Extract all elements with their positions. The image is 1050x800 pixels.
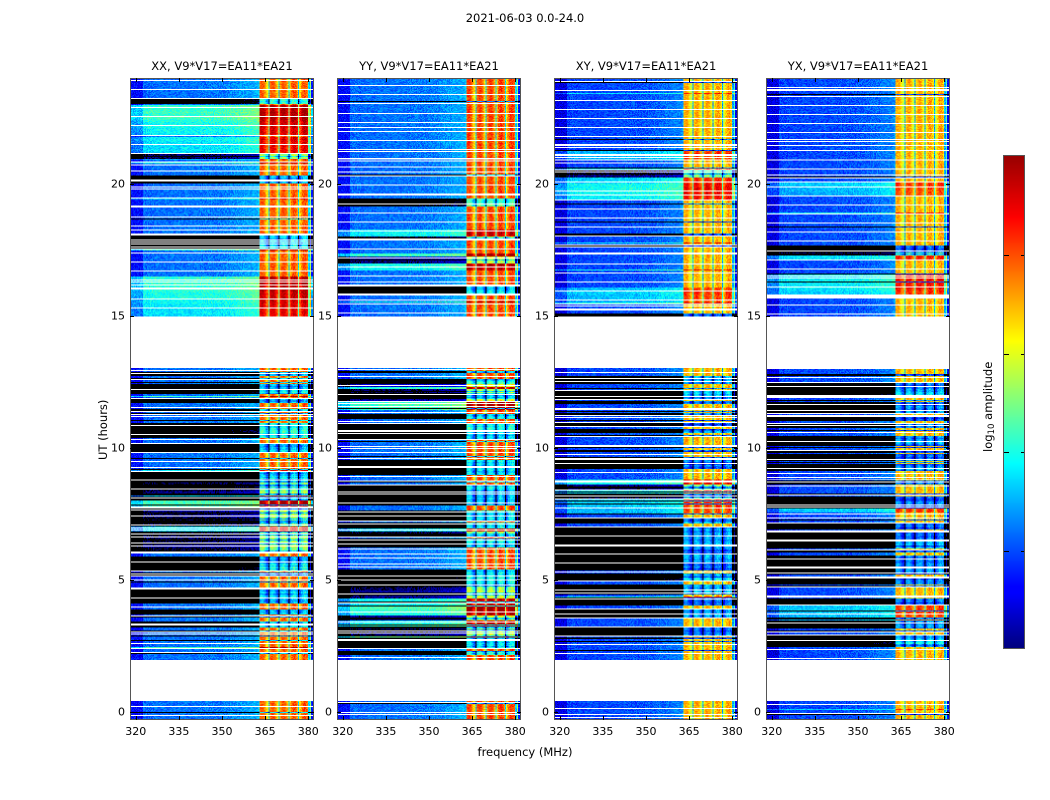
y-tick-label: 10	[111, 441, 130, 454]
colorbar-tick-mark	[1004, 452, 1009, 453]
y-tick-mark	[554, 184, 558, 185]
x-tick-label: 365	[462, 720, 483, 738]
y-tick-mark	[130, 712, 134, 713]
y-tick-mark	[517, 712, 521, 713]
x-tick-mark	[343, 78, 344, 82]
x-tick-mark	[944, 716, 945, 720]
y-tick-mark	[766, 316, 770, 317]
colorbar[interactable]: 10-1-2-3-4	[1003, 155, 1025, 649]
x-tick-mark	[222, 716, 223, 720]
y-tick-mark	[734, 448, 738, 449]
y-tick-label: 0	[325, 706, 337, 719]
x-tick-mark	[222, 78, 223, 82]
x-tick-mark	[308, 78, 309, 82]
x-tick-mark	[815, 78, 816, 82]
y-tick-label: 0	[118, 706, 130, 719]
y-tick-label: 5	[754, 573, 766, 586]
y-tick-mark	[130, 316, 134, 317]
x-tick-mark	[386, 716, 387, 720]
x-tick-label: 380	[298, 720, 319, 738]
panel-frame-yy	[337, 78, 521, 720]
x-tick-label: 320	[332, 720, 353, 738]
y-tick-mark	[946, 580, 950, 581]
y-tick-label: 0	[754, 706, 766, 719]
panel-yy[interactable]: YY, V9*V17=EA11*EA21 3203353503653800510…	[337, 78, 521, 720]
y-tick-label: 0	[542, 706, 554, 719]
y-tick-mark	[517, 580, 521, 581]
colorbar-tick-label: 1	[1003, 155, 1004, 163]
y-tick-label: 15	[111, 309, 130, 322]
y-tick-label: 20	[318, 177, 337, 190]
y-tick-label: 5	[325, 573, 337, 586]
y-tick-mark	[554, 580, 558, 581]
y-tick-mark	[766, 712, 770, 713]
colorbar-tick-mark	[1021, 452, 1025, 453]
x-tick-mark	[136, 78, 137, 82]
y-tick-mark	[946, 316, 950, 317]
x-tick-label: 365	[255, 720, 276, 738]
colorbar-tick-mark	[1021, 354, 1025, 355]
y-tick-mark	[734, 580, 738, 581]
x-tick-label: 320	[125, 720, 146, 738]
waterfall-image-yx	[767, 79, 949, 719]
colorbar-tick-label: -4	[1003, 644, 1004, 650]
y-tick-label: 10	[747, 441, 766, 454]
y-tick-mark	[130, 448, 134, 449]
panel-title-xy: XY, V9*V17=EA11*EA21	[554, 59, 738, 73]
x-tick-label: 335	[375, 720, 396, 738]
x-tick-mark	[472, 716, 473, 720]
x-tick-mark	[732, 78, 733, 82]
x-tick-mark	[265, 78, 266, 82]
x-tick-mark	[901, 78, 902, 82]
x-tick-label: 350	[848, 720, 869, 738]
waterfall-image-xy	[555, 79, 737, 719]
y-tick-mark	[734, 316, 738, 317]
waterfall-image-xx	[131, 79, 313, 719]
x-tick-mark	[689, 78, 690, 82]
y-tick-label: 15	[318, 309, 337, 322]
colorbar-tick-mark	[1021, 255, 1025, 256]
y-tick-mark	[766, 184, 770, 185]
x-tick-mark	[858, 78, 859, 82]
y-tick-mark	[337, 448, 341, 449]
x-tick-label: 380	[722, 720, 743, 738]
colorbar-label-subscript: 10	[987, 424, 997, 435]
x-tick-mark	[603, 716, 604, 720]
x-tick-label: 320	[549, 720, 570, 738]
x-tick-mark	[136, 716, 137, 720]
x-tick-mark	[815, 716, 816, 720]
colorbar-tick-mark	[1004, 354, 1009, 355]
x-tick-mark	[515, 716, 516, 720]
x-tick-label: 350	[419, 720, 440, 738]
colorbar-tick-mark	[1021, 551, 1025, 552]
y-tick-mark	[517, 184, 521, 185]
y-tick-mark	[766, 580, 770, 581]
y-tick-mark	[554, 448, 558, 449]
panel-yx[interactable]: YX, V9*V17=EA11*EA21 3203353503653800510…	[766, 78, 950, 720]
x-tick-label: 365	[679, 720, 700, 738]
x-tick-mark	[772, 78, 773, 82]
y-tick-mark	[310, 712, 314, 713]
colorbar-tick-mark	[1004, 551, 1009, 552]
y-tick-mark	[554, 712, 558, 713]
x-tick-mark	[179, 716, 180, 720]
y-tick-mark	[337, 316, 341, 317]
x-tick-mark	[429, 716, 430, 720]
x-axis-label: frequency (MHz)	[0, 745, 1050, 759]
y-tick-label: 20	[535, 177, 554, 190]
y-tick-mark	[337, 184, 341, 185]
y-tick-mark	[130, 580, 134, 581]
x-tick-mark	[386, 78, 387, 82]
x-tick-mark	[689, 716, 690, 720]
panel-title-xx: XX, V9*V17=EA11*EA21	[130, 59, 314, 73]
x-tick-mark	[944, 78, 945, 82]
panel-frame-yx	[766, 78, 950, 720]
y-tick-mark	[310, 580, 314, 581]
x-tick-mark	[646, 78, 647, 82]
y-tick-mark	[310, 316, 314, 317]
x-tick-mark	[858, 716, 859, 720]
y-tick-mark	[517, 448, 521, 449]
y-tick-mark	[946, 712, 950, 713]
y-tick-label: 20	[111, 177, 130, 190]
y-tick-mark	[554, 316, 558, 317]
panel-title-yy: YY, V9*V17=EA11*EA21	[337, 59, 521, 73]
y-tick-label: 10	[318, 441, 337, 454]
panel-title-yx: YX, V9*V17=EA11*EA21	[766, 59, 950, 73]
figure-suptitle: 2021-06-03 0.0-24.0	[0, 11, 1050, 25]
y-tick-mark	[310, 448, 314, 449]
colorbar-label-suffix: amplitude	[981, 362, 995, 424]
x-tick-label: 350	[636, 720, 657, 738]
colorbar-label: log10 amplitude	[981, 362, 997, 452]
panel-xx[interactable]: XX, V9*V17=EA11*EA21 3203353503653800510…	[130, 78, 314, 720]
x-tick-label: 320	[761, 720, 782, 738]
colorbar-tick-mark	[1004, 255, 1009, 256]
y-tick-mark	[130, 184, 134, 185]
y-tick-label: 5	[118, 573, 130, 586]
x-tick-mark	[560, 716, 561, 720]
x-tick-mark	[646, 716, 647, 720]
x-tick-mark	[515, 78, 516, 82]
panel-frame-xx	[130, 78, 314, 720]
x-tick-label: 380	[505, 720, 526, 738]
panel-xy[interactable]: XY, V9*V17=EA11*EA21 3203353503653800510…	[554, 78, 738, 720]
x-tick-mark	[732, 716, 733, 720]
y-tick-label: 15	[535, 309, 554, 322]
y-tick-label: 5	[542, 573, 554, 586]
x-tick-label: 365	[891, 720, 912, 738]
panel-frame-xy	[554, 78, 738, 720]
y-tick-mark	[517, 316, 521, 317]
y-tick-mark	[310, 184, 314, 185]
y-tick-mark	[734, 184, 738, 185]
x-tick-label: 380	[934, 720, 955, 738]
x-tick-mark	[603, 78, 604, 82]
waterfall-image-yy	[338, 79, 520, 719]
y-tick-mark	[766, 448, 770, 449]
x-tick-mark	[901, 716, 902, 720]
y-tick-mark	[337, 580, 341, 581]
y-tick-mark	[946, 184, 950, 185]
x-tick-mark	[343, 716, 344, 720]
y-tick-mark	[734, 712, 738, 713]
x-tick-mark	[429, 78, 430, 82]
x-tick-label: 350	[212, 720, 233, 738]
y-tick-label: 10	[535, 441, 554, 454]
x-tick-mark	[308, 716, 309, 720]
x-tick-mark	[472, 78, 473, 82]
x-tick-mark	[560, 78, 561, 82]
x-tick-label: 335	[592, 720, 613, 738]
colorbar-label-prefix: log	[981, 434, 995, 452]
x-tick-label: 335	[168, 720, 189, 738]
y-tick-label: 20	[747, 177, 766, 190]
x-tick-mark	[265, 716, 266, 720]
y-tick-mark	[946, 448, 950, 449]
y-tick-label: 15	[747, 309, 766, 322]
y-tick-mark	[337, 712, 341, 713]
x-tick-mark	[179, 78, 180, 82]
y-axis-label: UT (hours)	[96, 400, 110, 460]
x-tick-label: 335	[804, 720, 825, 738]
x-tick-mark	[772, 716, 773, 720]
